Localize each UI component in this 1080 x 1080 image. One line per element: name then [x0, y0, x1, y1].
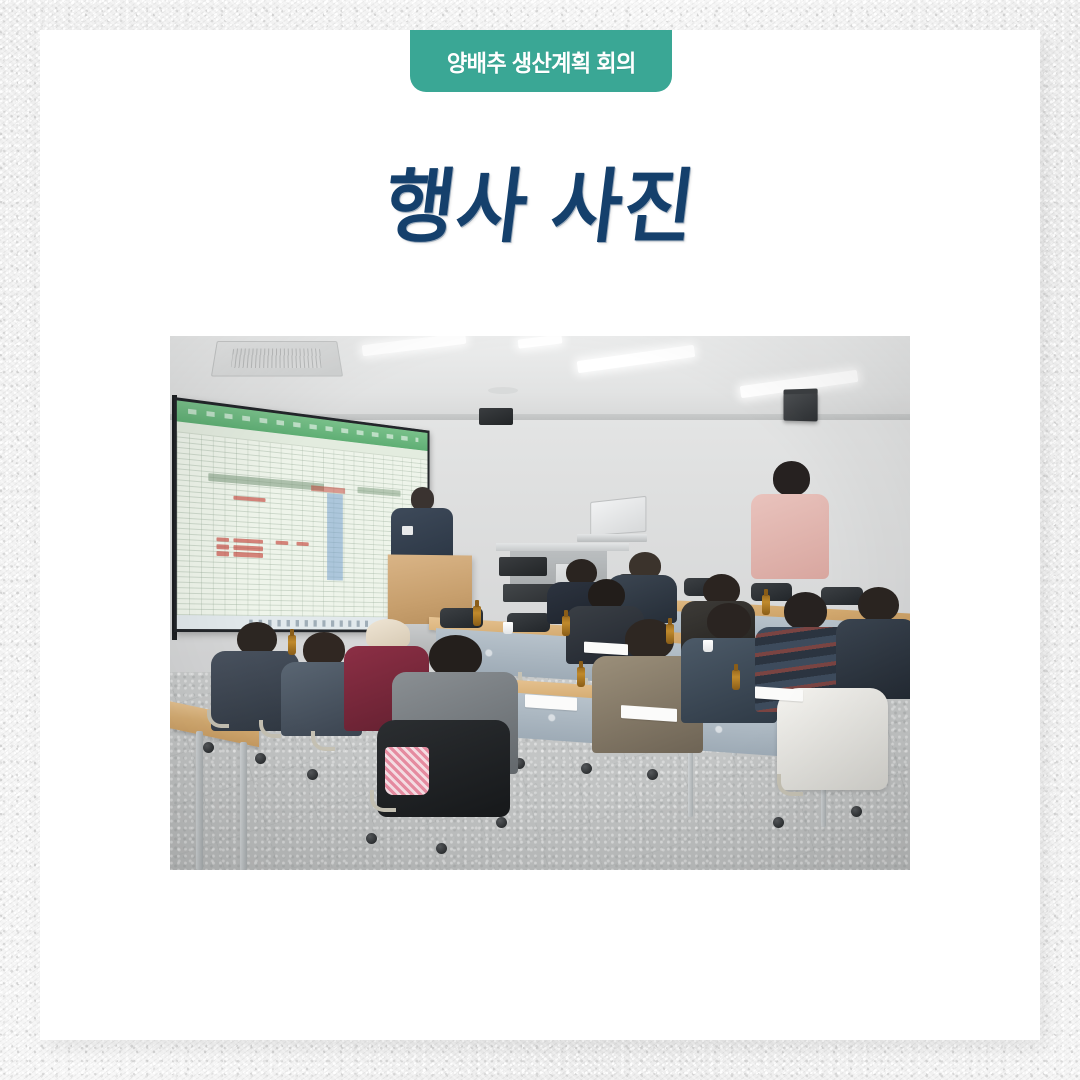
spreadsheet-title-cell — [209, 473, 324, 491]
spreadsheet-red-cell — [234, 538, 263, 544]
content-card: 양배추 생산계획 회의 행사 사진 — [40, 30, 1040, 1040]
laptop-base — [577, 534, 647, 543]
drink-bottle — [288, 635, 296, 655]
drink-bottle — [762, 595, 770, 615]
spreadsheet-red-cell — [297, 542, 310, 547]
spreadsheet-red-cell — [234, 552, 263, 558]
empty-chair-back — [751, 583, 792, 601]
chair-caster — [307, 769, 318, 780]
drink-bottle — [473, 606, 481, 626]
page-title: 행사 사진 — [380, 168, 701, 249]
attendee-head — [858, 587, 899, 622]
drink-bottle — [562, 616, 570, 636]
floor-bag — [385, 747, 429, 795]
standing-person-body — [751, 494, 829, 579]
spreadsheet-selected-column — [328, 493, 344, 581]
paper-cup — [703, 640, 713, 652]
air-conditioner-unit — [211, 341, 343, 376]
spreadsheet-red-cell — [234, 545, 263, 551]
chair-caster — [496, 817, 507, 828]
attendee-head — [784, 592, 827, 629]
attendee-body — [836, 619, 910, 699]
drink-bottle — [666, 624, 674, 644]
section-ribbon-tab: 양배추 생산계획 회의 — [410, 30, 672, 92]
desk-leg — [688, 747, 693, 816]
attendee-hat — [366, 619, 410, 649]
chair-caster — [255, 753, 266, 764]
spreadsheet-red-cell — [276, 541, 289, 546]
ceiling-sensor — [488, 387, 518, 394]
standing-person-head — [773, 461, 810, 495]
event-photo — [170, 336, 910, 870]
poster-page: 양배추 생산계획 회의 행사 사진 — [0, 0, 1080, 1080]
side-desk-leg — [196, 731, 203, 870]
attendee-head — [429, 635, 482, 678]
av-equipment — [499, 557, 547, 576]
attendee-head — [707, 603, 751, 640]
wall-speaker — [783, 392, 818, 421]
spreadsheet-red-cell — [217, 552, 229, 557]
spreadsheet-red-cell — [234, 496, 266, 503]
empty-chair-back — [821, 587, 862, 605]
spreadsheet-red-cell — [217, 545, 229, 550]
drink-bottle — [732, 670, 740, 690]
chair-caster — [773, 817, 784, 828]
spreadsheet-red-cell — [217, 537, 229, 542]
event-photo-frame — [170, 336, 910, 870]
side-desk-leg — [240, 742, 247, 870]
presenter-head — [411, 487, 435, 510]
laptop-screen — [590, 496, 646, 536]
page-title-wrap: 행사 사진 — [40, 170, 1040, 246]
spreadsheet-subtitle-cell — [358, 487, 402, 498]
presenter-badge — [402, 526, 413, 535]
chair-caster — [581, 763, 592, 774]
ceiling-projector — [479, 408, 513, 425]
paper-cup — [503, 622, 513, 634]
ribbon-label: 양배추 생산계획 회의 — [447, 44, 636, 78]
chair-caster — [366, 833, 377, 844]
chair-caster — [851, 806, 862, 817]
empty-chair-back — [507, 613, 550, 632]
drink-bottle — [577, 667, 585, 687]
chair-caster — [647, 769, 658, 780]
